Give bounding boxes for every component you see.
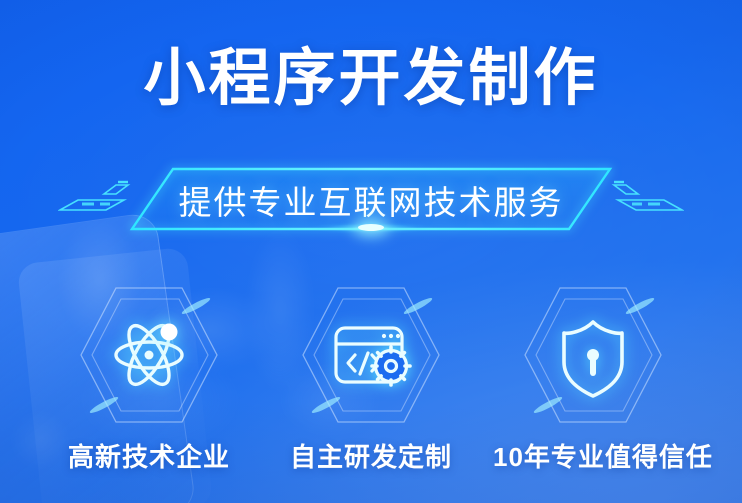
feature-label-row: 高新技术企业 自主研发定制 10年专业值得信任 (0, 437, 742, 474)
feature-label-cell: 10年专业值得信任 (493, 437, 693, 474)
page-title: 小程序开发制作 (0, 46, 742, 111)
feature-label-custom-dev: 自主研发定制 (290, 442, 452, 472)
center-glow-core (358, 224, 384, 231)
feature-label-hightech: 高新技术企业 (68, 442, 230, 472)
atom-icon (74, 286, 224, 424)
feature-label-cell: 自主研发定制 (271, 437, 471, 474)
hexagon-frame (296, 286, 446, 424)
feature-label-trusted: 10年专业值得信任 (493, 442, 713, 472)
feature-item (493, 286, 693, 424)
feature-label-cell: 高新技术企业 (49, 437, 249, 474)
feature-item (271, 286, 471, 424)
hexagon-frame (74, 286, 224, 424)
feature-item (49, 286, 249, 424)
subtitle-text: 提供专业互联网技术服务 (0, 176, 742, 224)
shield-lock-icon (518, 286, 668, 424)
code-window-gear-icon (296, 286, 446, 424)
promo-banner: 小程序开发制作 (0, 0, 742, 503)
subtitle-banner: 提供专业互联网技术服务 (0, 168, 742, 234)
feature-list (0, 286, 742, 424)
hexagon-frame (518, 286, 668, 424)
